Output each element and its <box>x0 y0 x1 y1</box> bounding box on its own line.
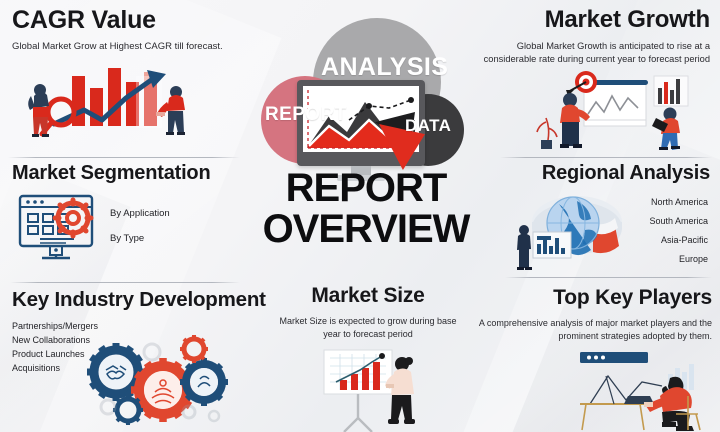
person-left <box>28 84 49 137</box>
analyst-desk-icon <box>570 352 715 432</box>
section-subtitle-top-key-players: A comprehensive analysis of major market… <box>467 317 712 341</box>
section-subtitle-market-growth: Global Market Growth is anticipated to r… <box>470 40 710 65</box>
section-key-industry-development: Key Industry Development <box>6 290 250 311</box>
person-observer <box>517 225 532 270</box>
segmentation-item-list: By Application By Type <box>110 207 170 246</box>
section-market-size: Market Size Market Size is expected to g… <box>258 285 478 340</box>
divider-right-bottom <box>505 277 712 278</box>
section-title-key-industry-development: Key Industry Development <box>6 290 250 311</box>
section-title-regional-analysis: Regional Analysis <box>470 163 710 183</box>
list-item: By Type <box>110 232 170 247</box>
section-title-cagr-value: CAGR Value <box>12 8 242 34</box>
globe-icon <box>515 188 650 272</box>
section-title-market-growth: Market Growth <box>470 8 710 32</box>
section-market-growth: Market Growth Global Market Growth is an… <box>470 8 710 66</box>
list-item: By Application <box>110 207 170 222</box>
page-title: REPORT OVERVIEW <box>248 168 484 250</box>
analysis-label: ANALYSIS <box>321 53 448 82</box>
bar-chart-growth-icon <box>14 62 234 150</box>
report-overview-infographic: ANALYSIS REPORT DATA REPORT OVERVIEW CAG… <box>0 0 720 432</box>
section-market-segmentation: Market Segmentation <box>12 163 244 183</box>
list-item: North America <box>649 196 708 210</box>
section-top-key-players: Top Key Players A comprehensive analysis… <box>467 287 712 342</box>
regional-item-list: North America South America Asia-Pacific… <box>649 196 708 267</box>
list-item: Asia-Pacific <box>649 234 708 248</box>
section-regional-analysis: Regional Analysis <box>470 163 710 183</box>
list-item: South America <box>649 215 708 229</box>
flipchart-bar-icon <box>320 348 430 432</box>
divider-left-bottom <box>10 282 240 283</box>
section-subtitle-market-size: Market Size is expected to grow during b… <box>258 315 478 339</box>
presentation-target-icon <box>520 70 710 150</box>
divider-right-middle <box>500 157 712 158</box>
center-hero-graphic: ANALYSIS REPORT DATA <box>255 8 475 178</box>
section-subtitle-cagr-value: Global Market Grow at Highest CAGR till … <box>12 41 242 54</box>
monitor-gear-icon <box>16 192 116 264</box>
list-item: Europe <box>649 253 708 267</box>
section-cagr-value: CAGR Value Global Market Grow at Highest… <box>12 8 242 53</box>
plant-decoration <box>537 118 557 149</box>
page-title-line2: OVERVIEW <box>248 209 484 250</box>
data-label: DATA <box>405 116 451 136</box>
page-title-line1: REPORT <box>248 168 484 209</box>
section-title-market-size: Market Size <box>258 285 478 306</box>
divider-left-middle <box>8 157 240 158</box>
gears-icon <box>86 332 226 428</box>
person-right <box>652 108 680 151</box>
section-title-top-key-players: Top Key Players <box>467 287 712 308</box>
section-title-market-segmentation: Market Segmentation <box>12 163 244 183</box>
report-label: REPORT <box>265 104 347 126</box>
